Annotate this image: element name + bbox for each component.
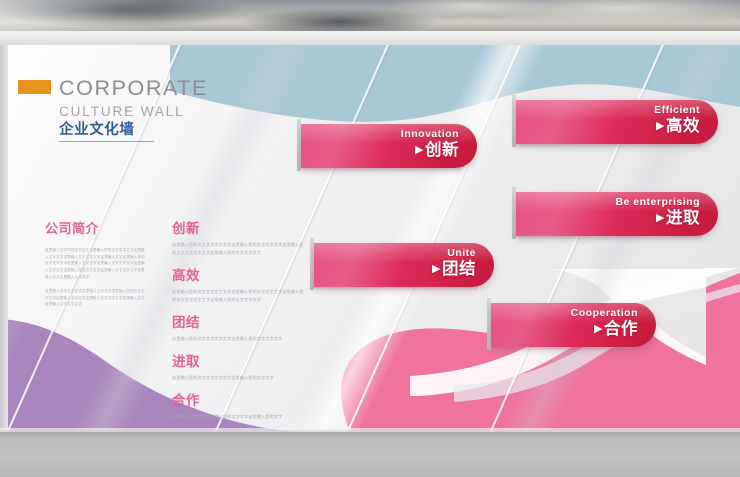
- value-heading: 高效: [172, 264, 304, 284]
- company-profile-paragraph: 这里输入文字文字文字这里输入文字文字这里输入您的文字文字文字这里输入文字文字这里…: [45, 288, 145, 308]
- ribbon-underline: [491, 347, 640, 351]
- ribbon-chinese-label: ▶进取: [615, 209, 700, 229]
- wall-surface: CORPORATE CULTURE WALL 企业文化墙 公司简介 这里输入文字…: [0, 45, 740, 433]
- ribbon-chinese-text: 创新: [425, 141, 459, 159]
- value-entry-enterprising: 进取 这里输入您的文字文字文字文字这里输入您的文字文字: [172, 350, 304, 382]
- ribbon-underline: [314, 287, 478, 291]
- play-triangle-icon: ▶: [656, 120, 665, 132]
- ribbon-english-label: Cooperation: [571, 307, 638, 319]
- company-profile-paragraph: 这里输入文字内容文字文字这里输入您的文字文字文字这里输入文字文字这里输入文字文字…: [45, 247, 145, 280]
- ribbon-text-group: Be enterprising ▶进取: [615, 196, 700, 229]
- play-triangle-icon: ▶: [432, 263, 441, 275]
- value-entry-cooperation: 合作 这里输入您的文字这里输入您的文字文字这里输入您的文字: [172, 389, 304, 421]
- value-heading: 创新: [172, 217, 304, 237]
- ribbon-sheen: [516, 100, 633, 144]
- ribbon-chinese-text: 合作: [604, 320, 638, 338]
- ribbon-chinese-label: ▶高效: [654, 117, 700, 137]
- value-entry-unite: 团结 这里输入您的文字文字文字文字这里输入您的文字文字文字: [172, 311, 304, 343]
- ribbon-chinese-label: ▶创新: [401, 141, 459, 161]
- value-heading: 团结: [172, 311, 304, 331]
- floor-surface: [0, 432, 740, 477]
- ribbon-unite: Unite ▶团结: [310, 243, 494, 287]
- ribbon-english-label: Efficient: [654, 104, 700, 116]
- ribbon-text-group: Cooperation ▶合作: [571, 307, 638, 340]
- ribbon-english-label: Be enterprising: [615, 196, 700, 208]
- value-heading: 合作: [172, 389, 304, 409]
- company-profile-heading: 公司简介: [45, 218, 145, 237]
- ribbon-underline: [301, 168, 461, 172]
- value-body: 这里输入您的文字文字文字文字这里输入您的文字文字: [172, 374, 304, 382]
- play-triangle-icon: ▶: [415, 144, 424, 156]
- values-text-column: 创新 这里输入您的文字文字文字文字这里输入您的文字文字文字这里输入您的文字文字文…: [172, 217, 304, 428]
- ribbon-chinese-text: 团结: [442, 260, 476, 278]
- ribbon-chinese-text: 高效: [666, 117, 700, 135]
- value-body: 这里输入您的文字文字文字文字这里输入您的文字文字文字这里输入您的文字文字文字文字…: [172, 288, 304, 304]
- orange-accent-bar: [18, 80, 51, 94]
- value-body: 这里输入您的文字文字文字文字这里输入您的文字文字文字: [172, 335, 304, 343]
- ribbon-sheen: [314, 243, 420, 287]
- ribbon-text-group: Innovation ▶创新: [401, 128, 459, 161]
- ribbon-text-group: Efficient ▶高效: [654, 104, 700, 137]
- ribbon-chinese-label: ▶团结: [432, 260, 476, 280]
- title-corporate: CORPORATE: [59, 78, 208, 100]
- title-chinese: 企业文化墙: [59, 123, 208, 138]
- ribbon-innovation: Innovation ▶创新: [297, 124, 477, 168]
- ceiling-trim-strip: [0, 31, 740, 45]
- culture-wall-scene: CORPORATE CULTURE WALL 企业文化墙 公司简介 这里输入文字…: [0, 0, 740, 477]
- ribbon-text-group: Unite ▶团结: [432, 247, 476, 280]
- play-triangle-icon: ▶: [656, 212, 665, 224]
- ribbon-english-label: Unite: [432, 247, 476, 259]
- ribbon-underline: [516, 236, 702, 240]
- ribbon-chinese-label: ▶合作: [571, 320, 638, 340]
- value-entry-efficient: 高效 这里输入您的文字文字文字文字这里输入您的文字文字文字这里输入您的文字文字文…: [172, 264, 304, 304]
- ribbon-underline: [516, 144, 702, 148]
- ribbon-be-enterprising: Be enterprising ▶进取: [512, 192, 718, 236]
- wall-left-edge: [0, 45, 8, 433]
- ribbon-cooperation: Cooperation ▶合作: [487, 303, 656, 347]
- ceiling-concrete-texture: [0, 0, 740, 31]
- ribbon-efficient: Efficient ▶高效: [512, 100, 718, 144]
- title-block: CORPORATE CULTURE WALL 企业文化墙: [18, 78, 208, 142]
- title-underline: [59, 141, 154, 142]
- ribbon-sheen: [301, 124, 405, 168]
- ribbon-english-label: Innovation: [401, 128, 459, 140]
- ribbon-chinese-text: 进取: [666, 209, 700, 227]
- value-entry-innovation: 创新 这里输入您的文字文字文字文字这里输入您的文字文字文字这里输入您的文字文字文…: [172, 217, 304, 257]
- value-body: 这里输入您的文字这里输入您的文字文字这里输入您的文字: [172, 413, 304, 421]
- value-body: 这里输入您的文字文字文字文字这里输入您的文字文字文字这里输入您的文字文字文字文字…: [172, 241, 304, 257]
- value-heading: 进取: [172, 350, 304, 370]
- title-culture-wall: CULTURE WALL: [59, 105, 208, 119]
- play-triangle-icon: ▶: [594, 323, 603, 335]
- company-profile-column: 公司简介 这里输入文字内容文字文字这里输入您的文字文字文字这里输入文字文字这里输…: [45, 218, 145, 308]
